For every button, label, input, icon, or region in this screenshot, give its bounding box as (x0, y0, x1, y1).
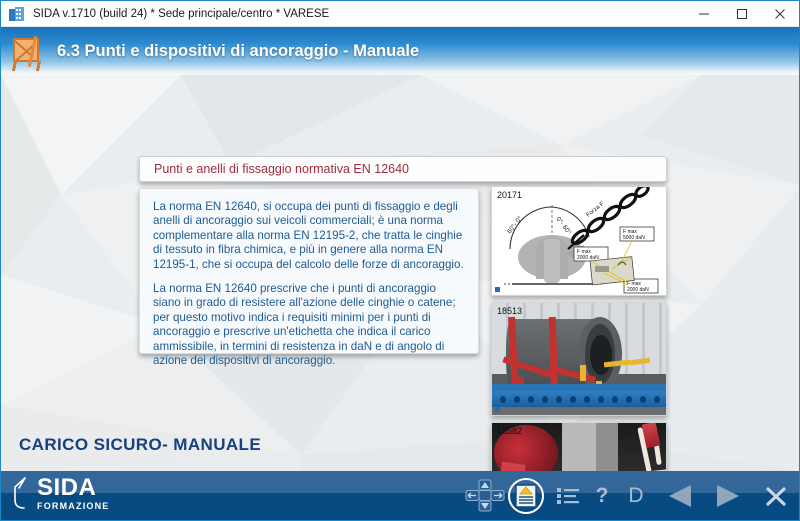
steel-coil-lashed-photo (492, 303, 666, 415)
window-controls (685, 1, 799, 27)
slide-caption: CARICO SICURO- MANUALE (1, 435, 799, 455)
image-id-label: 18513 (497, 306, 522, 316)
close-x-icon[interactable] (763, 481, 789, 511)
svg-text:5000 daN: 5000 daN (623, 235, 645, 241)
list-index-icon[interactable] (553, 481, 583, 511)
slide-banner: Punti e anelli di fissaggio normativa EN… (139, 156, 667, 182)
footer-toolbar: ? D (465, 471, 791, 521)
svg-text:2000 daN: 2000 daN (627, 287, 649, 293)
navigation-dpad-icon[interactable] (465, 479, 505, 513)
image-marker-dot (495, 287, 500, 292)
window-title: SIDA v.1710 (build 24) * Sede principale… (33, 8, 329, 20)
slide-text-panel: La norma EN 12640, si occupa dei punti d… (139, 188, 479, 354)
image-id-label: 18582 (497, 426, 522, 436)
footer-bar: SIDA FORMAZIONE (1, 471, 799, 521)
slide-banner-text: Punti e anelli di fissaggio normativa EN… (140, 162, 409, 176)
sida-logo: SIDA FORMAZIONE (9, 476, 110, 514)
app-building-icon (9, 7, 25, 21)
slide-stage: Punti e anelli di fissaggio normativa EN… (1, 75, 799, 471)
logo-subtitle: FORMAZIONE (37, 501, 110, 511)
image-id-label: 20171 (497, 190, 522, 200)
trailer-rail (492, 391, 666, 407)
previous-arrow-icon[interactable] (663, 481, 699, 511)
help-question-icon[interactable]: ? (589, 481, 615, 511)
document-page-icon[interactable] (507, 477, 545, 515)
next-arrow-icon[interactable] (709, 481, 745, 511)
logo-name: SIDA (37, 476, 110, 500)
module-header: 6.3 Punti e dispositivi di ancoraggio - … (1, 27, 799, 75)
maximize-button[interactable] (723, 1, 761, 27)
image-card-diagram[interactable]: 60°- 0° 0°- 60° (491, 186, 667, 296)
minimize-button[interactable] (685, 1, 723, 27)
application-window: SIDA v.1710 (build 24) * Sede principale… (0, 0, 800, 521)
paragraph-2: La norma EN 12640 prescrive che i punti … (153, 282, 465, 368)
close-button[interactable] (761, 1, 799, 27)
title-bar: SIDA v.1710 (build 24) * Sede principale… (1, 1, 799, 27)
dictionary-d-icon[interactable]: D (623, 481, 649, 511)
sida-logo-mark-icon (9, 476, 35, 514)
image-card-coil-photo[interactable]: 18513 (491, 302, 667, 416)
paragraph-1: La norma EN 12640, si occupa dei punti d… (153, 200, 465, 272)
image-marker-dot (495, 407, 500, 412)
crate-box-icon (11, 35, 45, 67)
anchor-point-force-diagram: 60°- 0° 0°- 60° (492, 187, 666, 295)
page-title: 6.3 Punti e dispositivi di ancoraggio - … (57, 42, 419, 61)
